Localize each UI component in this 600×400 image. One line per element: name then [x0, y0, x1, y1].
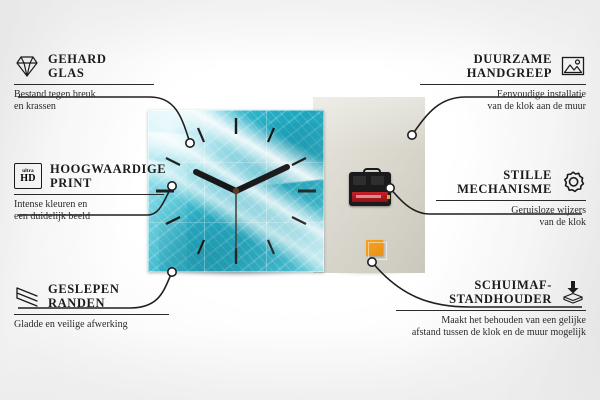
- badge-bottom-text: HD: [20, 174, 36, 184]
- desc-line-2: van de klok: [436, 217, 586, 229]
- callout-header: SCHUIMAF- STANDHOUDER: [396, 278, 586, 306]
- callout-geslepen-randen: GESLEPEN RANDEN Gladde en veilige afwerk…: [14, 282, 169, 331]
- title-line-1: DUURZAME: [467, 52, 552, 66]
- callout-description: Gladde en veilige afwerking: [14, 319, 169, 331]
- desc-line-2: afstand tussen de klok en de muur mogeli…: [396, 327, 586, 339]
- connector-endpoint-spacer: [368, 258, 376, 266]
- connector-endpoint-handgreep: [408, 131, 416, 139]
- callout-gehard-glas: GEHARD GLAS Bestand tegen breuk en krass…: [14, 52, 154, 113]
- desc-line-1: Bestand tegen breuk: [14, 89, 154, 101]
- callout-header: ultra HD HOOGWAARDIGE PRINT: [14, 162, 164, 190]
- divider: [420, 84, 586, 85]
- connector-endpoint-glas: [186, 139, 194, 147]
- callout-stille-mechanisme: STILLE MECHANISME Geruisloze wijzers van…: [436, 168, 586, 229]
- callout-title: STILLE MECHANISME: [457, 168, 552, 196]
- desc-line-2: en krassen: [14, 101, 154, 113]
- callout-duurzame-handgreep: DUURZAME HANDGREEP Eenvoudige installati…: [420, 52, 586, 113]
- desc-line-1: Eenvoudige installatie: [420, 89, 586, 101]
- callout-title: DUURZAME HANDGREEP: [467, 52, 552, 80]
- ultra-hd-badge-icon: ultra HD: [14, 163, 42, 189]
- callout-header: GEHARD GLAS: [14, 52, 154, 80]
- callout-title: GEHARD GLAS: [48, 52, 106, 80]
- title-line-1: GEHARD: [48, 52, 106, 66]
- callout-description: Intense kleuren en een duidelijk beeld: [14, 199, 164, 223]
- callout-schuimafstandhouder: SCHUIMAF- STANDHOUDER Maakt het behouden…: [396, 278, 586, 339]
- desc-line-1: Maakt het behouden van een gelijke: [396, 315, 586, 327]
- desc-line-1: Gladde en veilige afwerking: [14, 319, 169, 331]
- callout-description: Bestand tegen breuk en krassen: [14, 89, 154, 113]
- callout-title: HOOGWAARDIGE PRINT: [50, 162, 166, 190]
- title-line-2: GLAS: [48, 66, 106, 80]
- callout-description: Eenvoudige installatie van de klok aan d…: [420, 89, 586, 113]
- spacer-arrow-icon: [560, 279, 586, 305]
- framed-picture-icon: [560, 53, 586, 79]
- title-line-1: GESLEPEN: [48, 282, 120, 296]
- divider: [14, 194, 164, 195]
- bevelled-edge-icon: [14, 283, 40, 309]
- connector-endpoint-print: [168, 182, 176, 190]
- divider: [14, 314, 169, 315]
- infographic-canvas: GEHARD GLAS Bestand tegen breuk en krass…: [0, 0, 600, 400]
- title-line-1: STILLE: [457, 168, 552, 182]
- callout-title: GESLEPEN RANDEN: [48, 282, 120, 310]
- callout-title: SCHUIMAF- STANDHOUDER: [449, 278, 552, 306]
- title-line-2: HANDGREEP: [467, 66, 552, 80]
- connector-endpoint-randen: [168, 268, 176, 276]
- title-line-1: HOOGWAARDIGE: [50, 162, 166, 176]
- callout-header: DUURZAME HANDGREEP: [420, 52, 586, 80]
- gear-icon: [560, 169, 586, 195]
- divider: [396, 310, 586, 311]
- callout-header: GESLEPEN RANDEN: [14, 282, 169, 310]
- diamond-icon: [14, 53, 40, 79]
- desc-line-1: Intense kleuren en: [14, 199, 164, 211]
- title-line-2: PRINT: [50, 176, 166, 190]
- title-line-1: SCHUIMAF-: [449, 278, 552, 292]
- divider: [14, 84, 154, 85]
- title-line-2: STANDHOUDER: [449, 292, 552, 306]
- divider: [436, 200, 586, 201]
- title-line-2: RANDEN: [48, 296, 120, 310]
- desc-line-2: een duidelijk beeld: [14, 211, 164, 223]
- callout-header: STILLE MECHANISME: [436, 168, 586, 196]
- connector-endpoint-mechanisme: [386, 184, 394, 192]
- callout-hoogwaardige-print: ultra HD HOOGWAARDIGE PRINT Intense kleu…: [14, 162, 164, 223]
- desc-line-2: van de klok aan de muur: [420, 101, 586, 113]
- callout-description: Geruisloze wijzers van de klok: [436, 205, 586, 229]
- callout-description: Maakt het behouden van een gelijke afsta…: [396, 315, 586, 339]
- desc-line-1: Geruisloze wijzers: [436, 205, 586, 217]
- title-line-2: MECHANISME: [457, 182, 552, 196]
